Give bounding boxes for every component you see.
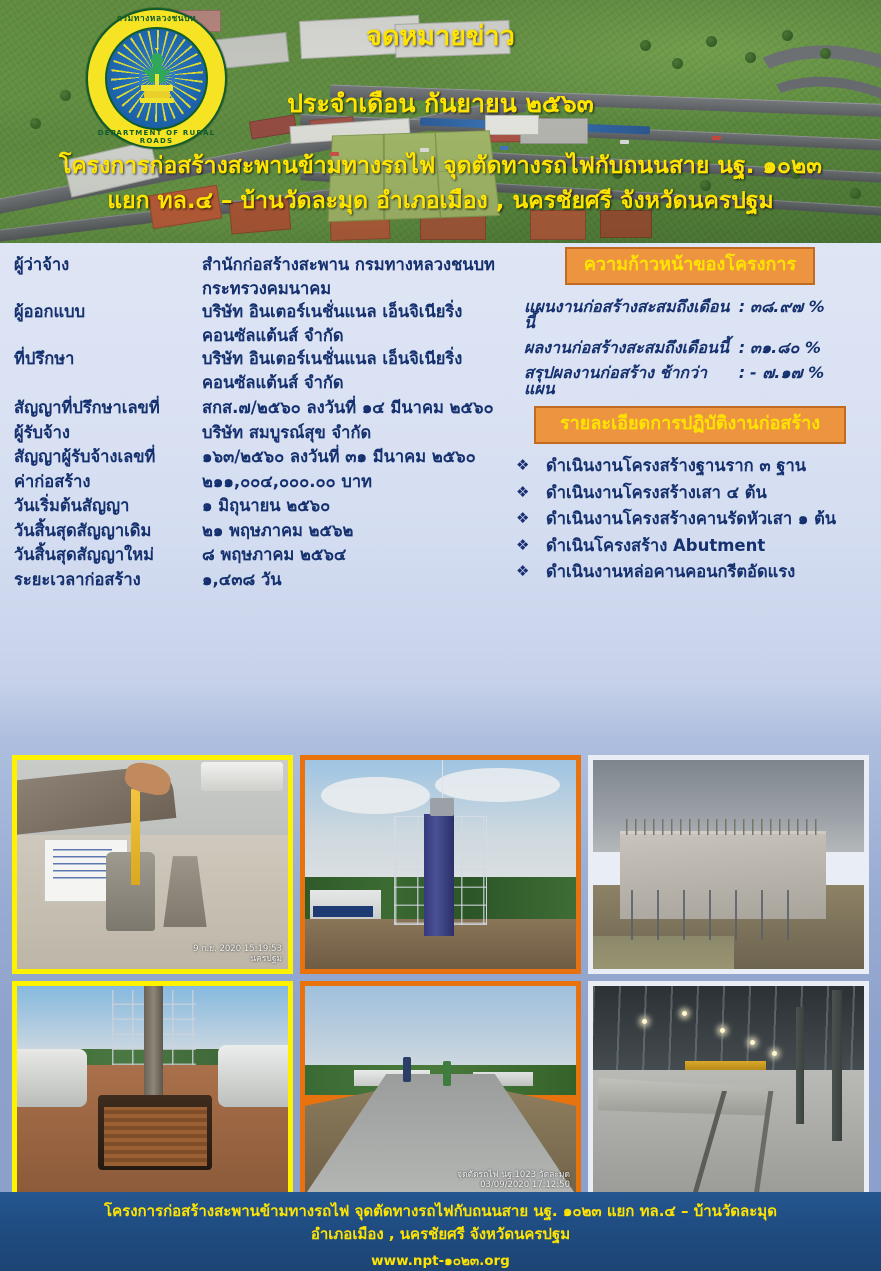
progress-value: ๓๑.๘๐ % [750, 340, 870, 356]
measuring-ruler [131, 789, 140, 885]
support-props [631, 890, 799, 940]
diamond-bullet-icon: ❖ [510, 458, 546, 473]
diamond-bullet-icon: ❖ [510, 511, 546, 526]
progress-colon: : [734, 299, 750, 331]
detail-label: ผู้ออกแบบ [14, 304, 202, 321]
detail-label: ผู้รับจ้าง [14, 425, 202, 442]
overhead-crane [685, 1061, 766, 1069]
detail-value: ๒๑ พฤษภาคม ๒๕๖๒ [202, 523, 514, 540]
detail-row: ผู้รับจ้าง บริษัท สมบูรณ์สุข จำกัด [14, 425, 514, 442]
detail-label: วันเริ่มต้นสัญญา [14, 498, 202, 515]
standing-water [593, 936, 734, 969]
list-item-label: ดำเนินงานโครงสร้างคานรัดหัวเสา ๑ ต้น [546, 511, 836, 528]
concrete-mixer-truck [218, 1045, 288, 1108]
detail-value-line1: สำนักก่อสร้างสะพาน กรมทางหลวงชนบท [202, 255, 495, 274]
timestamp-line1: จุดตัดรถไฟ นฐ.1023 วัดละมุด [457, 1170, 570, 1181]
progress-panel: ความก้าวหน้าของโครงการ แผนงานก่อสร้างสะส… [510, 247, 870, 444]
photo-abutment-structure[interactable] [588, 755, 869, 974]
photo-image [593, 986, 864, 1195]
newsletter-month: ประจำเดือน กันยายน ๒๕๖๓ [0, 84, 881, 124]
list-item-label: ดำเนินโครงสร้าง Abutment [546, 538, 765, 555]
footer-project-line1: โครงการก่อสร้างสะพานข้ามทางรถไฟ จุดตัดทา… [0, 1200, 881, 1223]
detail-label: วันสิ้นสุดสัญญาใหม่ [14, 547, 202, 564]
header-titles: จดหมายข่าว ประจำเดือน กันยายน ๒๕๖๓ โครงก… [0, 0, 881, 218]
list-item: ❖ ดำเนินงานหล่อคานคอนกรีตอัดแรง [510, 564, 880, 581]
worker [403, 1057, 411, 1082]
concrete-bucket [430, 798, 454, 817]
photo-image: จุดตัดรถไฟ นฐ.1023 วัดละมุด 03/09/2020 1… [305, 986, 576, 1195]
concrete-mixer-truck [17, 1049, 87, 1108]
detail-row: ผู้ว่าจ้าง สำนักก่อสร้างสะพาน กรมทางหลวง… [14, 257, 514, 297]
detail-value: บริษัท อินเตอร์เนชั่นแนล เอ็นจิเนียริ่ง … [202, 304, 514, 344]
detail-value: สกส.๗/๒๕๖๐ ลงวันที่ ๑๔ มีนาคม ๒๕๖๐ [202, 400, 514, 417]
timestamp-line2: 03/09/2020 17:12:50 [457, 1180, 570, 1191]
photo-gallery: 9 ก.ย. 2020 15:19:53 นครปฐม [12, 755, 870, 1200]
progress-line: ผลงานก่อสร้างสะสมถึงเดือนนี้ : ๓๑.๘๐ % [510, 340, 870, 356]
project-details-table: ผู้ว่าจ้าง สำนักก่อสร้างสะพาน กรมทางหลวง… [14, 257, 514, 594]
detail-value: ๒๑๑,๐๐๔,๐๐๐.๐๐ บาท [202, 474, 514, 491]
cloud [435, 768, 560, 801]
detail-row: ผู้ออกแบบ บริษัท อินเตอร์เนชั่นแนล เอ็นจ… [14, 304, 514, 344]
detail-value: บริษัท อินเตอร์เนชั่นแนล เอ็นจิเนียริ่ง … [202, 351, 514, 391]
progress-label: ผลงานก่อสร้างสะสมถึงเดือนนี้ [524, 340, 734, 356]
rebar-dowels [626, 819, 821, 836]
photo-image [593, 760, 864, 969]
detail-value-line2: กระทรวงคมนาคม [202, 281, 514, 298]
newsletter-title: จดหมายข่าว [0, 22, 881, 52]
parked-vehicle [201, 762, 282, 791]
column-formwork [424, 814, 454, 935]
worker [443, 1061, 451, 1086]
detail-value-line2: คอนซัลแต้นส์ จำกัด [202, 375, 514, 392]
detail-row: สัญญาที่ปรึกษาเลขที่ สกส.๗/๒๕๖๐ ลงวันที่… [14, 400, 514, 417]
progress-line: แผนงานก่อสร้างสะสมถึงเดือนนี้ : ๓๘.๙๗ % [510, 299, 870, 331]
photo-image: 9 ก.ย. 2020 15:19:53 นครปฐม [17, 760, 288, 969]
detail-label: วันสิ้นสุดสัญญาเดิม [14, 523, 202, 540]
photo-column-concrete-pour[interactable] [300, 755, 581, 974]
detail-row: ระยะเวลาก่อสร้าง ๑,๔๓๘ วัน [14, 572, 514, 589]
photo-foundation-concrete-pour[interactable] [12, 981, 293, 1200]
photo-timestamp: จุดตัดรถไฟ นฐ.1023 วัดละมุด 03/09/2020 1… [457, 1170, 570, 1191]
detail-row: ค่าก่อสร้าง ๒๑๑,๐๐๔,๐๐๐.๐๐ บาท [14, 474, 514, 491]
detail-label: สัญญาผู้รับจ้างเลขที่ [14, 449, 202, 466]
header-banner: กรมทางหลวงชนบท DEPARTMENT OF RURAL ROADS [0, 0, 881, 243]
footer-project-line2: อำเภอเมือง , นครชัยศรี จังหวัดนครปฐม [0, 1223, 881, 1246]
footer-website[interactable]: www.npt-๑๐๒๓.org [0, 1249, 881, 1271]
cloud [321, 777, 429, 815]
progress-line: สรุปผลงานก่อสร้าง ช้ากว่าแผน : - ๗.๑๗ % [510, 365, 870, 397]
page-footer: โครงการก่อสร้างสะพานข้ามทางรถไฟ จุดตัดทา… [0, 1192, 881, 1271]
photo-bridge-deck-pour[interactable]: จุดตัดรถไฟ นฐ.1023 วัดละมุด 03/09/2020 1… [300, 981, 581, 1200]
foundation-formwork [104, 1107, 207, 1166]
diamond-bullet-icon: ❖ [510, 564, 546, 579]
detail-label: ที่ปรึกษา [14, 351, 202, 368]
diamond-bullet-icon: ❖ [510, 485, 546, 500]
list-item: ❖ ดำเนินงานโครงสร้างฐานราก ๓ ฐาน [510, 458, 880, 475]
work-items-list: ❖ ดำเนินงานโครงสร้างฐานราก ๓ ฐาน ❖ ดำเนิ… [510, 458, 880, 591]
ceiling-lamp [772, 1051, 777, 1056]
list-item-label: ดำเนินงานหล่อคานคอนกรีตอัดแรง [546, 564, 795, 581]
photo-image [305, 760, 576, 969]
diamond-bullet-icon: ❖ [510, 538, 546, 553]
progress-value: ๓๘.๙๗ % [750, 299, 870, 331]
detail-value-line1: บริษัท อินเตอร์เนชั่นแนล เอ็นจิเนียริ่ง [202, 349, 462, 368]
detail-value: ๑ มิถุนายน ๒๕๖๐ [202, 498, 514, 515]
progress-colon: : [734, 365, 750, 397]
detail-value: ๑๖๓/๒๕๖๐ ลงวันที่ ๓๑ มีนาคม ๒๕๖๐ [202, 449, 514, 466]
detail-value: ๘ พฤษภาคม ๒๕๖๔ [202, 547, 514, 564]
list-item-label: ดำเนินงานโครงสร้างเสา ๔ ต้น [546, 485, 767, 502]
progress-value: - ๗.๑๗ % [750, 365, 870, 397]
project-title-line1: โครงการก่อสร้างสะพานข้ามทางรถไฟ จุดตัดทา… [0, 151, 881, 183]
detail-label: ค่าก่อสร้าง [14, 474, 202, 491]
progress-banner-heading: ความก้าวหน้าของโครงการ [565, 247, 815, 285]
steel-column [832, 990, 843, 1140]
detail-value: สำนักก่อสร้างสะพาน กรมทางหลวงชนบท กระทรว… [202, 257, 514, 297]
column-rebar-cage [144, 986, 163, 1103]
timestamp-line1: 9 ก.ย. 2020 15:19:53 [193, 944, 282, 955]
photo-image [17, 986, 288, 1195]
detail-row: วันสิ้นสุดสัญญาเดิม ๒๑ พฤษภาคม ๒๕๖๒ [14, 523, 514, 540]
steel-column [796, 1007, 804, 1124]
progress-colon: : [734, 340, 750, 356]
detail-value: ๑,๔๓๘ วัน [202, 572, 514, 589]
detail-label: ผู้ว่าจ้าง [14, 257, 202, 274]
detail-row: วันเริ่มต้นสัญญา ๑ มิถุนายน ๒๕๖๐ [14, 498, 514, 515]
detail-row: วันสิ้นสุดสัญญาใหม่ ๘ พฤษภาคม ๒๕๖๔ [14, 547, 514, 564]
crane-cable [442, 760, 443, 802]
project-title-line2: แยก ทล.๔ – บ้านวัดละมุด อำเภอเมือง , นคร… [0, 186, 881, 218]
detail-value-line2: คอนซัลแต้นส์ จำกัด [202, 328, 514, 345]
detail-label: สัญญาที่ปรึกษาเลขที่ [14, 400, 202, 417]
photo-prestressed-girder-yard[interactable] [588, 981, 869, 1200]
newsletter-page: กรมทางหลวงชนบท DEPARTMENT OF RURAL ROADS [0, 0, 881, 1271]
progress-label: สรุปผลงานก่อสร้าง ช้ากว่าแผน [524, 365, 734, 397]
timestamp-line2: นครปฐม [193, 954, 282, 965]
progress-label: แผนงานก่อสร้างสะสมถึงเดือนนี้ [524, 299, 734, 331]
list-item: ❖ ดำเนินงานโครงสร้างคานรัดหัวเสา ๑ ต้น [510, 511, 880, 528]
detail-label: ระยะเวลาก่อสร้าง [14, 572, 202, 589]
detail-value: บริษัท สมบูรณ์สุข จำกัด [202, 425, 514, 442]
detail-row: สัญญาผู้รับจ้างเลขที่ ๑๖๓/๒๕๖๐ ลงวันที่ … [14, 449, 514, 466]
detail-value-line1: บริษัท อินเตอร์เนชั่นแนล เอ็นจิเนียริ่ง [202, 302, 462, 321]
signboard [313, 906, 373, 916]
content-area: ผู้ว่าจ้าง สำนักก่อสร้างสะพาน กรมทางหลวง… [0, 243, 881, 741]
photo-concrete-slump-test[interactable]: 9 ก.ย. 2020 15:19:53 นครปฐม [12, 755, 293, 974]
photo-timestamp: 9 ก.ย. 2020 15:19:53 นครปฐม [193, 944, 282, 965]
list-item: ❖ ดำเนินงานโครงสร้างเสา ๔ ต้น [510, 485, 880, 502]
detail-row: ที่ปรึกษา บริษัท อินเตอร์เนชั่นแนล เอ็นจ… [14, 351, 514, 391]
list-item-label: ดำเนินงานโครงสร้างฐานราก ๓ ฐาน [546, 458, 806, 475]
work-details-banner-heading: รายละเอียดการปฏิบัติงานก่อสร้าง [534, 406, 846, 444]
list-item: ❖ ดำเนินโครงสร้าง Abutment [510, 538, 880, 555]
photo-sky [305, 986, 576, 1078]
